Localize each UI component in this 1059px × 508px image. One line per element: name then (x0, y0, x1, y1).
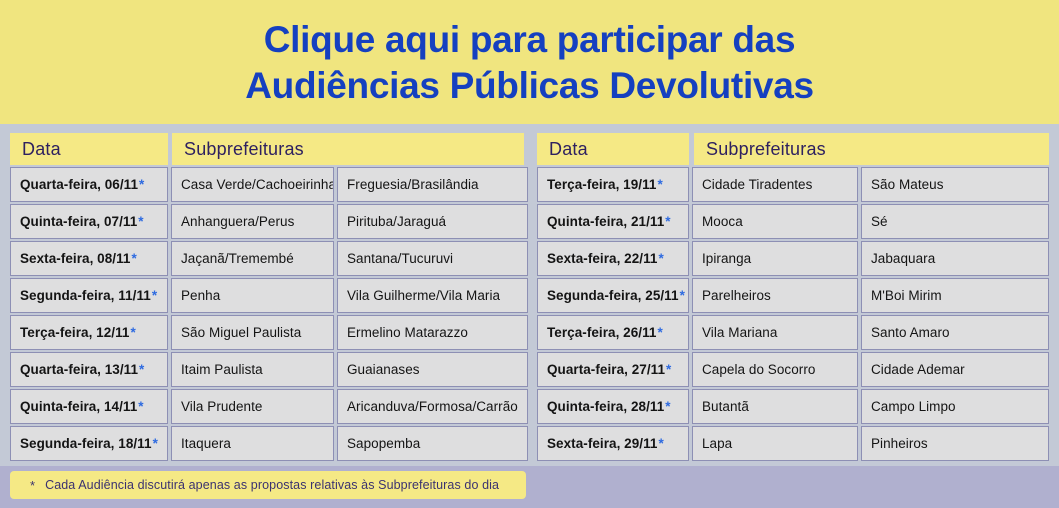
schedule-table-right: Terça-feira, 19/11*Cidade TiradentesSão … (537, 167, 1049, 463)
cell-subprefeitura-b: Guaianases (337, 352, 528, 387)
asterisk-icon: * (131, 251, 136, 266)
cell-subprefeitura-b: Jabaquara (861, 241, 1049, 276)
cell-subprefeitura-b: Santo Amaro (861, 315, 1049, 350)
table-row[interactable]: Quarta-feira, 27/11*Capela do SocorroCid… (537, 352, 1049, 389)
table-row[interactable]: Quinta-feira, 21/11*MoocaSé (537, 204, 1049, 241)
cell-subprefeitura-b: Campo Limpo (861, 389, 1049, 424)
page-root: Clique aqui para participar das Audiênci… (0, 0, 1059, 508)
date-text: Segunda-feira, 25/11 (547, 288, 679, 303)
cell-subprefeitura-a: Capela do Socorro (692, 352, 858, 387)
cell-subprefeitura-b: Sé (861, 204, 1049, 239)
cell-subprefeitura-a: Jaçanã/Tremembé (171, 241, 334, 276)
cell-date: Quarta-feira, 27/11* (537, 352, 689, 387)
date-text: Quinta-feira, 14/11 (20, 399, 137, 414)
cell-date: Terça-feira, 12/11* (10, 315, 168, 350)
cell-subprefeitura-a: Ipiranga (692, 241, 858, 276)
table-row[interactable]: Quinta-feira, 07/11*Anhanguera/PerusPiri… (10, 204, 528, 241)
cell-date: Segunda-feira, 18/11* (10, 426, 168, 461)
cell-subprefeitura-a: Itaim Paulista (171, 352, 334, 387)
cell-date: Quinta-feira, 28/11* (537, 389, 689, 424)
table-row[interactable]: Sexta-feira, 08/11*Jaçanã/TremembéSantan… (10, 241, 528, 278)
asterisk-icon: * (139, 177, 144, 192)
date-text: Quinta-feira, 21/11 (547, 214, 664, 229)
cell-subprefeitura-a: Itaquera (171, 426, 334, 461)
table-row[interactable]: Quarta-feira, 13/11*Itaim PaulistaGuaian… (10, 352, 528, 389)
header-data-left: Data (10, 133, 168, 165)
cell-date: Sexta-feira, 22/11* (537, 241, 689, 276)
schedule-table-left: Quarta-feira, 06/11*Casa Verde/Cachoeiri… (10, 167, 528, 463)
cell-subprefeitura-a: Cidade Tiradentes (692, 167, 858, 202)
asterisk-icon: * (680, 288, 685, 303)
date-text: Segunda-feira, 11/11 (20, 288, 151, 303)
cell-subprefeitura-a: Casa Verde/Cachoeirinha (171, 167, 334, 202)
asterisk-icon: * (30, 479, 35, 492)
cell-subprefeitura-b: São Mateus (861, 167, 1049, 202)
date-text: Quarta-feira, 27/11 (547, 362, 665, 377)
cell-subprefeitura-a: Penha (171, 278, 334, 313)
footnote-badge: * Cada Audiência discutirá apenas as pro… (10, 471, 526, 499)
cell-subprefeitura-b: Freguesia/Brasilândia (337, 167, 528, 202)
title-line-1: Clique aqui para participar das (264, 17, 795, 63)
cell-subprefeitura-b: Pinheiros (861, 426, 1049, 461)
table-row[interactable]: Sexta-feira, 22/11*IpirangaJabaquara (537, 241, 1049, 278)
header-label: Subprefeituras (184, 139, 304, 160)
cell-subprefeitura-a: Lapa (692, 426, 858, 461)
cell-subprefeitura-b: Ermelino Matarazzo (337, 315, 528, 350)
table-row[interactable]: Terça-feira, 26/11*Vila MarianaSanto Ama… (537, 315, 1049, 352)
header-data-right: Data (537, 133, 689, 165)
asterisk-icon: * (665, 399, 670, 414)
cell-date: Quinta-feira, 21/11* (537, 204, 689, 239)
date-text: Sexta-feira, 29/11 (547, 436, 657, 451)
cell-date: Terça-feira, 19/11* (537, 167, 689, 202)
table-row[interactable]: Terça-feira, 19/11*Cidade TiradentesSão … (537, 167, 1049, 204)
cell-subprefeitura-b: Cidade Ademar (861, 352, 1049, 387)
date-text: Sexta-feira, 08/11 (20, 251, 130, 266)
asterisk-icon: * (658, 436, 663, 451)
cell-date: Quinta-feira, 07/11* (10, 204, 168, 239)
asterisk-icon: * (139, 362, 144, 377)
asterisk-icon: * (658, 251, 663, 266)
asterisk-icon: * (138, 399, 143, 414)
table-row[interactable]: Terça-feira, 12/11*São Miguel PaulistaEr… (10, 315, 528, 352)
cell-date: Segunda-feira, 11/11* (10, 278, 168, 313)
header-subprefeituras-left: Subprefeituras (172, 133, 524, 165)
header-label: Data (22, 139, 61, 160)
header-subprefeituras-right: Subprefeituras (694, 133, 1049, 165)
title-banner[interactable]: Clique aqui para participar das Audiênci… (0, 0, 1059, 124)
table-row[interactable]: Quinta-feira, 14/11*Vila PrudenteAricand… (10, 389, 528, 426)
header-label: Subprefeituras (706, 139, 826, 160)
cell-date: Terça-feira, 26/11* (537, 315, 689, 350)
cell-date: Sexta-feira, 08/11* (10, 241, 168, 276)
cell-subprefeitura-b: Aricanduva/Formosa/Carrão (337, 389, 528, 424)
table-row[interactable]: Sexta-feira, 29/11*LapaPinheiros (537, 426, 1049, 463)
table-row[interactable]: Segunda-feira, 25/11*ParelheirosM'Boi Mi… (537, 278, 1049, 315)
cell-subprefeitura-b: M'Boi Mirim (861, 278, 1049, 313)
date-text: Quinta-feira, 07/11 (20, 214, 137, 229)
table-row[interactable]: Quinta-feira, 28/11*ButantãCampo Limpo (537, 389, 1049, 426)
cell-date: Quarta-feira, 13/11* (10, 352, 168, 387)
asterisk-icon: * (665, 214, 670, 229)
cell-date: Segunda-feira, 25/11* (537, 278, 689, 313)
cell-subprefeitura-b: Pirituba/Jaraguá (337, 204, 528, 239)
date-text: Quinta-feira, 28/11 (547, 399, 664, 414)
date-text: Terça-feira, 12/11 (20, 325, 129, 340)
header-label: Data (549, 139, 588, 160)
cell-date: Quarta-feira, 06/11* (10, 167, 168, 202)
asterisk-icon: * (130, 325, 135, 340)
asterisk-icon: * (666, 362, 671, 377)
cell-subprefeitura-b: Sapopemba (337, 426, 528, 461)
cell-subprefeitura-a: Butantã (692, 389, 858, 424)
date-text: Quarta-feira, 06/11 (20, 177, 138, 192)
asterisk-icon: * (138, 214, 143, 229)
cell-subprefeitura-a: Mooca (692, 204, 858, 239)
date-text: Quarta-feira, 13/11 (20, 362, 138, 377)
date-text: Sexta-feira, 22/11 (547, 251, 657, 266)
cell-date: Quinta-feira, 14/11* (10, 389, 168, 424)
cell-subprefeitura-a: Vila Prudente (171, 389, 334, 424)
cell-subprefeitura-b: Santana/Tucuruvi (337, 241, 528, 276)
date-text: Terça-feira, 19/11 (547, 177, 656, 192)
cell-subprefeitura-a: Anhanguera/Perus (171, 204, 334, 239)
asterisk-icon: * (657, 177, 662, 192)
table-row[interactable]: Quarta-feira, 06/11*Casa Verde/Cachoeiri… (10, 167, 528, 204)
cell-subprefeitura-a: Vila Mariana (692, 315, 858, 350)
cell-subprefeitura-b: Vila Guilherme/Vila Maria (337, 278, 528, 313)
table-row[interactable]: Segunda-feira, 11/11*PenhaVila Guilherme… (10, 278, 528, 315)
asterisk-icon: * (152, 288, 157, 303)
cell-subprefeitura-a: São Miguel Paulista (171, 315, 334, 350)
asterisk-icon: * (657, 325, 662, 340)
date-text: Terça-feira, 26/11 (547, 325, 656, 340)
footnote-text: Cada Audiência discutirá apenas as propo… (45, 478, 499, 492)
title-line-2: Audiências Públicas Devolutivas (245, 63, 814, 109)
asterisk-icon: * (153, 436, 158, 451)
date-text: Segunda-feira, 18/11 (20, 436, 152, 451)
cell-date: Sexta-feira, 29/11* (537, 426, 689, 461)
table-row[interactable]: Segunda-feira, 18/11*ItaqueraSapopemba (10, 426, 528, 463)
cell-subprefeitura-a: Parelheiros (692, 278, 858, 313)
